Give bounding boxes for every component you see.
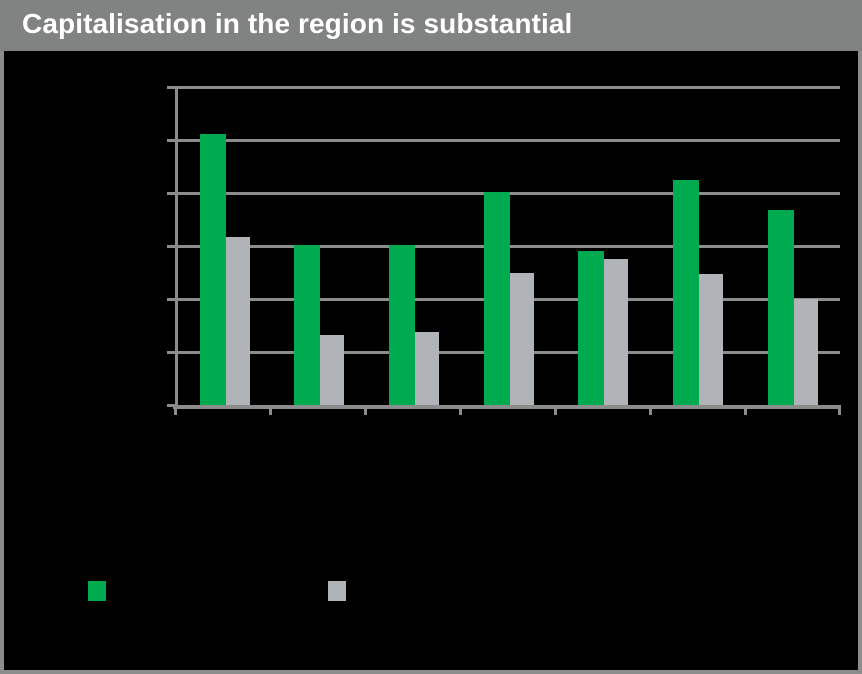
bar-g3-s1[interactable]: [389, 245, 415, 405]
x-axis-tick-2: [364, 405, 367, 415]
legend-item-series-2[interactable]: [328, 581, 356, 601]
bar-g5-s1[interactable]: [578, 251, 604, 405]
x-axis-tick-1: [269, 405, 272, 415]
x-axis-tick-6: [744, 405, 747, 415]
bar-g4-s1[interactable]: [484, 192, 510, 405]
x-axis-tick-5: [649, 405, 652, 415]
bar-g2-s1[interactable]: [294, 245, 320, 405]
bar-plot-region: [0, 0, 862, 405]
slide-root: Capitalisation in the region is substant…: [0, 0, 862, 674]
legend-item-series-1[interactable]: [88, 581, 116, 601]
x-axis-tick-0: [174, 405, 177, 415]
bar-g2-s2[interactable]: [320, 335, 344, 405]
bar-g1-s2[interactable]: [226, 237, 250, 405]
bar-g6-s1[interactable]: [673, 180, 699, 405]
bar-g6-s2[interactable]: [699, 274, 723, 405]
bar-g1-s1[interactable]: [200, 134, 226, 405]
x-axis-tick-7: [838, 405, 841, 415]
legend-swatch-grey-icon: [328, 581, 346, 601]
bar-g4-s2[interactable]: [510, 273, 534, 405]
bar-chart: [0, 0, 862, 674]
x-axis-tick-4: [554, 405, 557, 415]
legend-swatch-green-icon: [88, 581, 106, 601]
x-axis-tick-3: [459, 405, 462, 415]
bar-g5-s2[interactable]: [604, 259, 628, 405]
x-axis-line: [173, 405, 840, 409]
bar-g7-s2[interactable]: [794, 299, 818, 405]
bar-g3-s2[interactable]: [415, 332, 439, 405]
bar-g7-s1[interactable]: [768, 210, 794, 405]
